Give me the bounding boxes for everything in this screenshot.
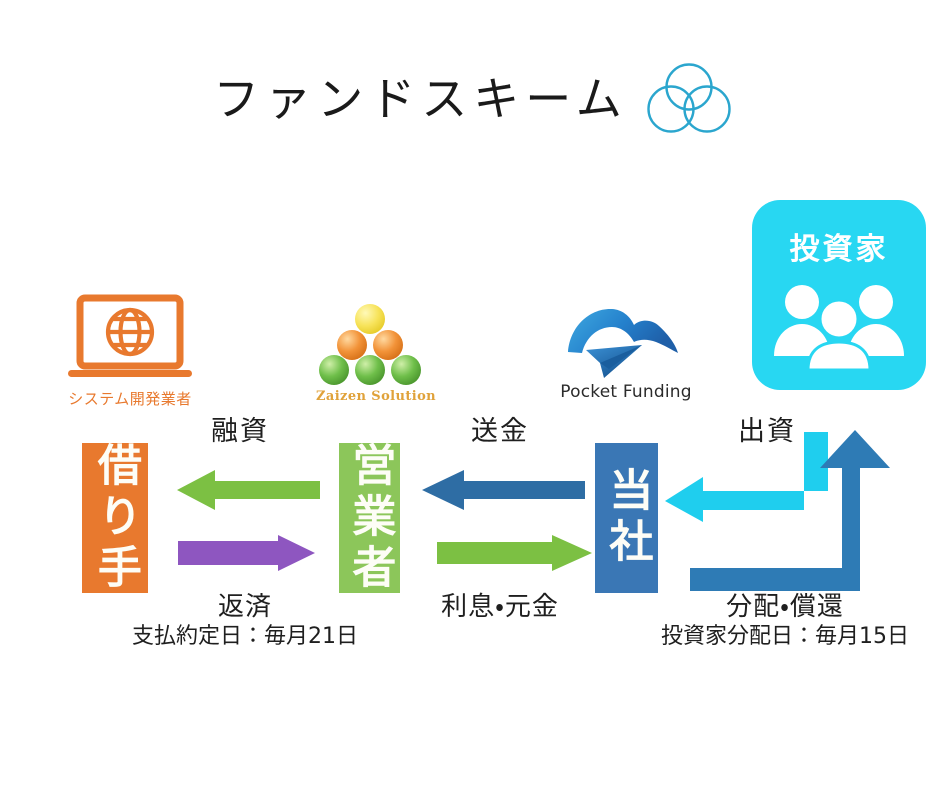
zaizen-spheres-icon <box>316 303 424 385</box>
flow-arrow-distribution <box>690 428 895 593</box>
venn-three-circles-icon <box>646 62 732 136</box>
system-developer-label: システム開発業者 <box>55 388 205 409</box>
pocket-funding-label: Pocket Funding <box>560 382 692 402</box>
box-company-label: 当社 <box>604 467 650 569</box>
laptop-globe-icon <box>55 292 205 384</box>
flow-label-loan: 融資 <box>180 417 300 447</box>
system-developer-icon-group: システム開発業者 <box>55 292 205 409</box>
caption-interest-title: 利息・元金 <box>410 593 590 623</box>
cloud-paperplane-icon <box>560 300 692 378</box>
investor-title: 投資家 <box>752 224 926 268</box>
page-title-text: ファンドスキーム <box>213 76 628 122</box>
investor-card: 投資家 <box>752 200 926 390</box>
diagram-canvas: ファンドスキーム システム開発業者 <box>0 0 945 790</box>
caption-repayment-title: 返済 <box>165 593 325 623</box>
caption-distribution-title: 分配・償還 <box>690 593 880 623</box>
page-title: ファンドスキーム <box>0 62 945 136</box>
caption-distribution-note: 投資家分配日：毎月15日 <box>620 624 945 649</box>
flow-label-remittance: 送金 <box>440 417 560 447</box>
caption-repayment-note: 支払約定日：毎月21日 <box>100 624 390 649</box>
three-people-icon <box>772 278 906 370</box>
box-operator-label: 営業者 <box>347 442 393 595</box>
pocket-funding-icon-group: Pocket Funding <box>560 300 692 402</box>
flow-arrow-repayment <box>178 534 315 572</box>
flow-arrow-remittance <box>420 468 585 512</box>
box-borrower: 借り手 <box>82 443 148 593</box>
flow-arrow-loan <box>175 468 320 512</box>
box-company: 当社 <box>595 443 658 593</box>
box-borrower-label: 借り手 <box>92 442 138 595</box>
flow-arrow-interest <box>437 534 592 572</box>
box-operator: 営業者 <box>339 443 400 593</box>
zaizen-solution-icon-group: Zaizen Solution <box>316 303 424 404</box>
zaizen-solution-label: Zaizen Solution <box>316 389 424 404</box>
